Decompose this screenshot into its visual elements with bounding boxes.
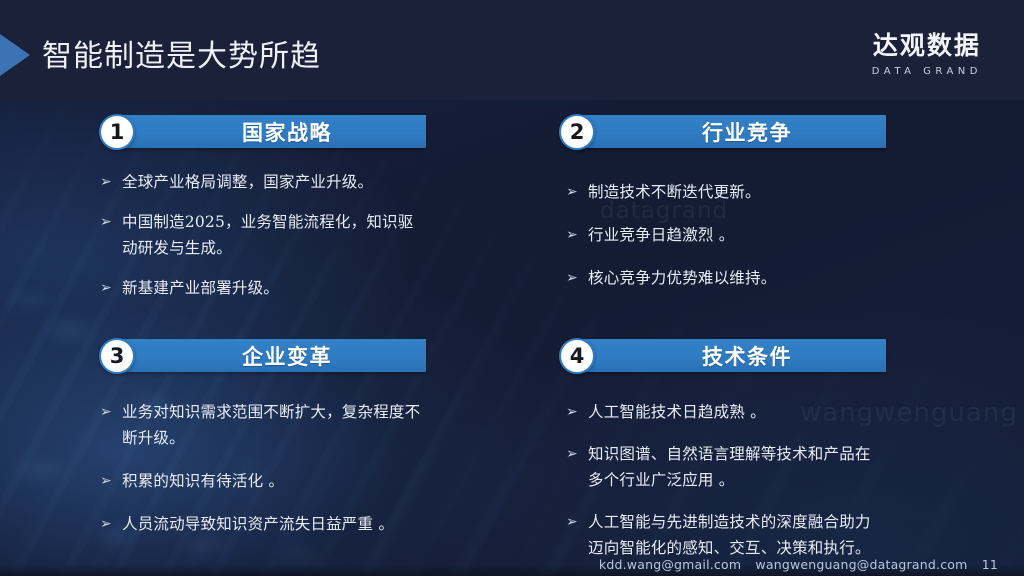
list-item-text: 中国制造2025，业务智能流程化，知识驱动研发与生成。 bbox=[122, 209, 426, 261]
section-number-badge: 3 bbox=[99, 338, 135, 374]
section-title: 企业变革 bbox=[118, 341, 426, 371]
page-title: 智能制造是大势所趋 bbox=[42, 31, 321, 75]
section-title: 行业竞争 bbox=[578, 117, 886, 147]
arrow-bullet-icon: ➢ bbox=[100, 399, 122, 425]
arrow-bullet-icon: ➢ bbox=[566, 441, 588, 467]
list-item: ➢ 业务对知识需求范围不断扩大，复杂程度不断升级。 bbox=[100, 399, 426, 451]
footer-contact: kdd.wang@gmail.com wangwenguang@datagran… bbox=[599, 557, 998, 572]
triangle-right-icon bbox=[0, 34, 30, 76]
list-item-text: 新基建产业部署升级。 bbox=[122, 275, 426, 301]
section-title-bar: 企业变革 bbox=[118, 339, 426, 372]
list-item: ➢ 行业竞争日趋激烈 。 bbox=[566, 222, 886, 248]
list-item: ➢ 制造技术不断迭代更新。 bbox=[566, 179, 886, 205]
section-header: 企业变革 3 bbox=[96, 337, 426, 375]
section-title: 国家战略 bbox=[118, 117, 426, 147]
bullet-list: ➢ 全球产业格局调整，国家产业升级。 ➢ 中国制造2025，业务智能流程化，知识… bbox=[100, 169, 426, 301]
page-number: 11 bbox=[982, 557, 998, 572]
list-item: ➢ 新基建产业部署升级。 bbox=[100, 275, 426, 301]
list-item: ➢ 知识图谱、自然语言理解等技术和产品在多个行业广泛应用 。 bbox=[566, 441, 886, 493]
section-number-badge: 1 bbox=[99, 114, 135, 150]
arrow-bullet-icon: ➢ bbox=[566, 179, 588, 205]
slide: datagrand wangwenguang 智能制造是大势所趋 达观数据 DA… bbox=[0, 0, 1024, 576]
list-item-text: 积累的知识有待活化 。 bbox=[122, 468, 426, 494]
list-item-text: 全球产业格局调整，国家产业升级。 bbox=[122, 169, 426, 195]
bullet-list: ➢ 业务对知识需求范围不断扩大，复杂程度不断升级。 ➢ 积累的知识有待活化 。 … bbox=[100, 399, 426, 537]
arrow-bullet-icon: ➢ bbox=[100, 169, 122, 195]
logo-english-text: DATA GRAND bbox=[872, 66, 982, 77]
section-number-badge: 2 bbox=[559, 114, 595, 150]
section-industry-competition: 行业竞争 2 ➢ 制造技术不断迭代更新。 ➢ 行业竞争日趋激烈 。 ➢ 核心竞争… bbox=[556, 113, 886, 308]
list-item-text: 人工智能与先进制造技术的深度融合助力迈向智能化的感知、交互、决策和执行。 bbox=[588, 509, 886, 561]
list-item: ➢ 全球产业格局调整，国家产业升级。 bbox=[100, 169, 426, 195]
arrow-bullet-icon: ➢ bbox=[100, 468, 122, 494]
section-title: 技术条件 bbox=[578, 341, 886, 371]
section-technology-conditions: 技术条件 4 ➢ 人工智能技术日趋成熟 。 ➢ 知识图谱、自然语言理解等技术和产… bbox=[556, 337, 886, 576]
bullet-list: ➢ 制造技术不断迭代更新。 ➢ 行业竞争日趋激烈 。 ➢ 核心竞争力优势难以维持… bbox=[566, 179, 886, 291]
arrow-bullet-icon: ➢ bbox=[566, 509, 588, 535]
section-header: 行业竞争 2 bbox=[556, 113, 886, 151]
arrow-bullet-icon: ➢ bbox=[100, 209, 122, 235]
section-title-bar: 国家战略 bbox=[118, 115, 426, 148]
list-item: ➢ 人工智能与先进制造技术的深度融合助力迈向智能化的感知、交互、决策和执行。 bbox=[566, 509, 886, 561]
list-item-text: 人员流动导致知识资产流失日益严重 。 bbox=[122, 511, 426, 537]
list-item: ➢ 人员流动导致知识资产流失日益严重 。 bbox=[100, 511, 426, 537]
section-enterprise-transformation: 企业变革 3 ➢ 业务对知识需求范围不断扩大，复杂程度不断升级。 ➢ 积累的知识… bbox=[96, 337, 426, 554]
bullet-list: ➢ 人工智能技术日趋成熟 。 ➢ 知识图谱、自然语言理解等技术和产品在多个行业广… bbox=[566, 399, 886, 561]
arrow-bullet-icon: ➢ bbox=[100, 275, 122, 301]
arrow-bullet-icon: ➢ bbox=[566, 399, 588, 425]
footer-email-secondary: wangwenguang@datagrand.com bbox=[755, 557, 967, 572]
list-item: ➢ 核心竞争力优势难以维持。 bbox=[566, 265, 886, 291]
section-header: 国家战略 1 bbox=[96, 113, 426, 151]
list-item: ➢ 积累的知识有待活化 。 bbox=[100, 468, 426, 494]
section-national-strategy: 国家战略 1 ➢ 全球产业格局调整，国家产业升级。 ➢ 中国制造2025，业务智… bbox=[96, 113, 426, 315]
logo-chinese-text: 达观数据 bbox=[872, 26, 982, 62]
brand-logo: 达观数据 DATA GRAND bbox=[872, 26, 982, 77]
list-item-text: 知识图谱、自然语言理解等技术和产品在多个行业广泛应用 。 bbox=[588, 441, 886, 493]
footer-email-primary: kdd.wang@gmail.com bbox=[599, 557, 741, 572]
list-item-text: 核心竞争力优势难以维持。 bbox=[588, 265, 886, 291]
list-item-text: 行业竞争日趋激烈 。 bbox=[588, 222, 886, 248]
list-item: ➢ 人工智能技术日趋成熟 。 bbox=[566, 399, 886, 425]
list-item-text: 制造技术不断迭代更新。 bbox=[588, 179, 886, 205]
section-title-bar: 技术条件 bbox=[578, 339, 886, 372]
section-number-badge: 4 bbox=[559, 338, 595, 374]
arrow-bullet-icon: ➢ bbox=[566, 222, 588, 248]
section-header: 技术条件 4 bbox=[556, 337, 886, 375]
arrow-bullet-icon: ➢ bbox=[100, 511, 122, 537]
section-title-bar: 行业竞争 bbox=[578, 115, 886, 148]
list-item-text: 业务对知识需求范围不断扩大，复杂程度不断升级。 bbox=[122, 399, 426, 451]
arrow-bullet-icon: ➢ bbox=[566, 265, 588, 291]
header-band: 智能制造是大势所趋 达观数据 DATA GRAND bbox=[0, 0, 1024, 100]
list-item-text: 人工智能技术日趋成熟 。 bbox=[588, 399, 886, 425]
list-item: ➢ 中国制造2025，业务智能流程化，知识驱动研发与生成。 bbox=[100, 209, 426, 261]
